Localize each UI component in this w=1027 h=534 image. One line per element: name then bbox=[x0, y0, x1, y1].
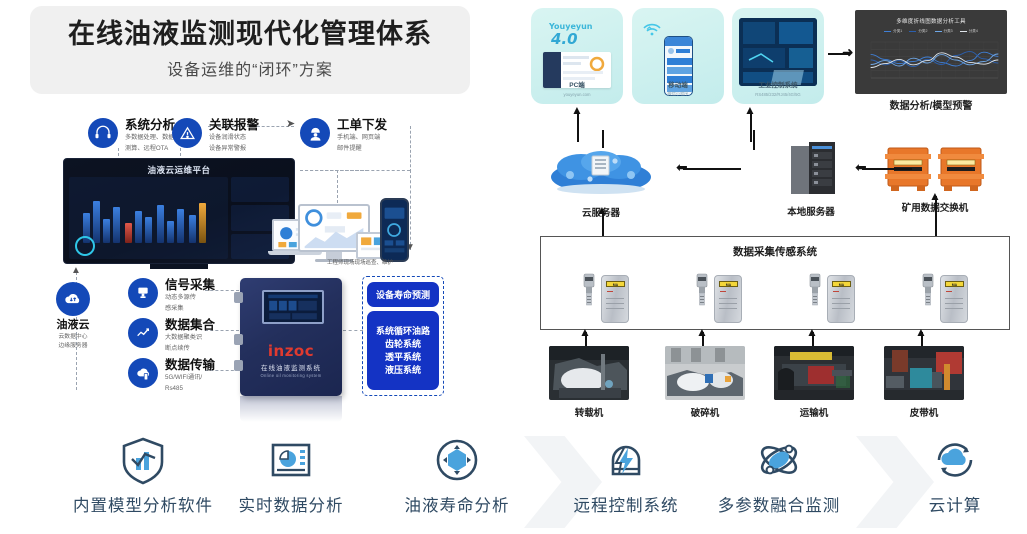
badge-title: 信号采集 bbox=[165, 278, 215, 292]
chart-plot-area bbox=[869, 40, 1000, 82]
app-card-sub: RS485/232/RJ45/4G/5G bbox=[732, 92, 824, 97]
module-ma-label: MA bbox=[719, 281, 738, 287]
badge-title: 工单下发 bbox=[337, 118, 387, 132]
system-item: 液压系统 bbox=[385, 364, 421, 376]
flow-line bbox=[753, 130, 755, 150]
equipment-label: 转载机 bbox=[549, 405, 629, 419]
gauge-icon bbox=[75, 236, 95, 256]
equipment-photo bbox=[884, 346, 964, 400]
badge-text: 关联报警 设备润滑状态 设备异常警报 bbox=[209, 118, 259, 153]
data-acquisition-box: 数据采集传感系统 MA ▬▬ bbox=[540, 236, 1010, 330]
acquisition-module: MA ▬▬ bbox=[827, 275, 855, 323]
warning-triangle-icon bbox=[172, 118, 202, 148]
ai-headset-icon bbox=[88, 118, 118, 148]
cloud-upload-icon bbox=[128, 358, 158, 388]
badge-sub2: 设备异常警报 bbox=[209, 145, 259, 153]
legend-item: 分类1 bbox=[884, 29, 902, 34]
module-model-text: ▬▬ bbox=[607, 289, 613, 293]
field-note: 工程师现场现场巡查、维护 bbox=[327, 258, 393, 266]
feature-builtin-model-software[interactable]: 内置模型分析软件 bbox=[68, 432, 218, 516]
worker-helmet-icon bbox=[300, 118, 330, 148]
feature-label: 油液寿命分析 bbox=[382, 492, 532, 516]
module-bar bbox=[719, 303, 737, 304]
acquisition-module: MA ▬▬ bbox=[601, 275, 629, 323]
chart-title: 多维度折线图数据分析工具 bbox=[855, 17, 1007, 25]
app-card-caption: 移动端 bbox=[632, 79, 724, 89]
conveyor-photo bbox=[774, 346, 854, 400]
page-title: 在线油液监测现代化管理体系 bbox=[68, 20, 432, 50]
lightning-gauge-icon bbox=[551, 432, 701, 488]
legend-item: 分类3 bbox=[935, 29, 953, 34]
feature-strip: 内置模型分析软件 实时数据分析 bbox=[0, 432, 1027, 534]
badge-sub1: 手机端、网页端 bbox=[337, 134, 387, 142]
acquisition-module: MA ▬▬ bbox=[714, 275, 742, 323]
badge-title: 数据集合 bbox=[165, 318, 215, 332]
feature-realtime-data-analysis[interactable]: 实时数据分析 bbox=[216, 432, 366, 516]
badge-text: 数据集合 大数据聚类识 断点续传 bbox=[165, 318, 215, 353]
industrial-mock bbox=[739, 18, 817, 86]
arrow-up-icon: ▲ bbox=[915, 326, 927, 338]
feature-multi-param-monitoring[interactable]: 多参数融合监测 bbox=[704, 432, 854, 516]
brand-version: 4.0 bbox=[551, 30, 578, 48]
badge-text: 数据传输 5G/WIFI通讯/ Rs485 bbox=[165, 358, 215, 393]
badge-sub1: 云数据中心 bbox=[57, 334, 90, 342]
sensor-system-title: 数据采集传感系统 bbox=[541, 244, 1009, 259]
chart-caption: 数据分析/模型预警 bbox=[855, 97, 1007, 112]
poster-root: 在线油液监测现代化管理体系 设备运维的“闭环”方案 ➤ ▼ ➤ ▲ bbox=[0, 0, 1027, 534]
module-bar bbox=[945, 303, 963, 304]
connector-dash bbox=[300, 170, 368, 171]
equipment-photo bbox=[774, 346, 854, 400]
arrow-left-icon: ⬅ bbox=[676, 160, 688, 174]
flow-line bbox=[683, 168, 741, 170]
equipment-label: 破碎机 bbox=[665, 405, 745, 419]
acquisition-module: MA ▬▬ bbox=[940, 275, 968, 323]
industrial-control-icon bbox=[739, 18, 817, 86]
device-reflection bbox=[240, 396, 342, 422]
equipment-label: 运输机 bbox=[774, 405, 854, 419]
badge-sub1: 大数据聚类识 bbox=[165, 334, 215, 342]
badge-sub1: 动态多源传 bbox=[165, 294, 215, 302]
module-model-text: ▬▬ bbox=[946, 289, 952, 293]
app-card-caption: 工业控制系统 bbox=[732, 79, 824, 89]
equipment-crusher[interactable]: 破碎机 bbox=[665, 346, 745, 419]
badge-sub2: 断点续传 bbox=[165, 345, 215, 353]
app-card-sub: 微信小程序 bbox=[632, 91, 724, 97]
crusher-photo bbox=[665, 346, 745, 400]
badge-sub1: 设备润滑状态 bbox=[209, 134, 259, 142]
device-name-en: Online oil monitoring system bbox=[240, 373, 342, 378]
badge-linked-alarm[interactable]: 关联报警 设备润滑状态 设备异常警报 bbox=[172, 118, 259, 153]
badge-title: 关联报警 bbox=[209, 118, 259, 132]
badge-title: 系统分析 bbox=[125, 118, 175, 132]
oil-sensor-probe-icon bbox=[808, 272, 822, 323]
phone-device bbox=[380, 198, 409, 262]
arrow-up-icon: ▲ bbox=[806, 326, 818, 338]
legend-item: 分类2 bbox=[909, 29, 927, 34]
brand-name: inzoc bbox=[240, 342, 342, 360]
module-bar bbox=[832, 298, 850, 299]
feature-cloud-computing[interactable]: 云计算 bbox=[880, 432, 1027, 516]
reloader-photo bbox=[549, 346, 629, 400]
badge-sub2: Rs485 bbox=[165, 385, 215, 393]
badge-data-transmission[interactable]: 数据传输 5G/WIFI通讯/ Rs485 bbox=[128, 358, 215, 393]
arrow-up-icon: ▲ bbox=[571, 104, 583, 116]
feature-label: 内置模型分析软件 bbox=[68, 492, 218, 516]
screen-stand bbox=[150, 264, 208, 269]
sensor-pair[interactable]: MA ▬▬ bbox=[808, 272, 855, 323]
module-ma-label: MA bbox=[945, 281, 964, 287]
module-bar bbox=[606, 298, 624, 299]
equipment-photo bbox=[549, 346, 629, 400]
platform-screen-body bbox=[69, 177, 289, 259]
platform-screen: 油液云运维平台 bbox=[63, 158, 295, 264]
oil-sensor-probe-icon bbox=[695, 272, 709, 323]
badge-sub1: 5G/WIFI通讯/ bbox=[165, 374, 215, 382]
badge-signal-acquisition[interactable]: 信号采集 动态多源传 感采集 bbox=[128, 278, 215, 313]
module-bar bbox=[719, 298, 737, 299]
equipment-conveyor[interactable]: 运输机 bbox=[774, 346, 854, 419]
equipment-label: 皮带机 bbox=[884, 405, 964, 419]
tower-server-icon bbox=[763, 140, 859, 196]
oil-sensor-probe-icon bbox=[582, 272, 596, 323]
title-card: 在线油液监测现代化管理体系 设备运维的“闭环”方案 bbox=[30, 6, 470, 94]
connector-dash bbox=[343, 330, 363, 331]
badge-sub2: 测算、远程OTA bbox=[125, 145, 175, 153]
sensor-list: MA ▬▬ MA ▬▬ bbox=[549, 263, 1001, 323]
device-connector-knob bbox=[234, 292, 243, 303]
feature-label: 远程控制系统 bbox=[551, 492, 701, 516]
cloud-refresh-icon bbox=[880, 432, 1027, 488]
connector-dash bbox=[410, 126, 411, 172]
sensor-pair[interactable]: MA ▬▬ bbox=[921, 272, 968, 323]
line-chart-icon bbox=[128, 318, 158, 348]
device-branding: inzoc 在线油液监测系统 Online oil monitoring sys… bbox=[240, 342, 342, 378]
feature-oil-life-analysis[interactable]: 油液寿命分析 bbox=[382, 432, 532, 516]
badge-text: 信号采集 动态多源传 感采集 bbox=[165, 278, 215, 313]
belt-machine-photo bbox=[884, 346, 964, 400]
flow-line bbox=[862, 168, 912, 170]
system-item: 齿轮系统 bbox=[385, 338, 421, 350]
chart-svg bbox=[869, 40, 1000, 82]
badge-text: 工单下发 手机端、网页端 邮件提醒 bbox=[337, 118, 387, 153]
feature-label: 云计算 bbox=[880, 492, 1027, 516]
isometric-visual bbox=[69, 177, 228, 259]
arrow-icon: ➤ bbox=[286, 119, 295, 130]
prediction-panel: 设备寿命预测 系统循环油路 齿轮系统 透平系统 液压系统 bbox=[362, 276, 444, 396]
badge-text: 系统分析 多数据处理、数据 测算、远程OTA bbox=[125, 118, 175, 153]
module-bar bbox=[945, 308, 963, 309]
badge-title: 油液云 bbox=[57, 319, 90, 332]
device-name-cn: 在线油液监测系统 bbox=[240, 362, 342, 372]
equipment-photo bbox=[665, 346, 745, 400]
sensor-pair[interactable]: MA ▬▬ bbox=[695, 272, 742, 323]
arrow-icon: ▲ bbox=[71, 266, 81, 276]
app-card-industrial[interactable]: 工业控制系统 RS485/232/RJ45/4G/5G bbox=[732, 8, 824, 104]
feature-label: 多参数融合监测 bbox=[704, 492, 854, 516]
arrow-left-icon: ⬅ bbox=[855, 160, 867, 174]
module-bar bbox=[945, 298, 963, 299]
cube-arrows-icon bbox=[382, 432, 532, 488]
app-card-sub: youyeyun.com bbox=[531, 92, 623, 97]
badge-work-order[interactable]: 工单下发 手机端、网页端 邮件提醒 bbox=[300, 118, 387, 153]
module-bar bbox=[606, 303, 624, 304]
cloud-sync-icon bbox=[56, 282, 90, 316]
app-card-caption: PC端 bbox=[531, 79, 623, 89]
badge-system-analysis[interactable]: 系统分析 多数据处理、数据 测算、远程OTA bbox=[88, 118, 175, 153]
arrow-up-icon: ▲ bbox=[596, 204, 608, 216]
badge-sub2: 感采集 bbox=[165, 305, 215, 313]
badge-sub1: 多数据处理、数据 bbox=[125, 134, 175, 142]
badge-oil-cloud[interactable]: 油液云 云数据中心 边缘服务器 bbox=[56, 282, 90, 351]
module-ma-label: MA bbox=[832, 281, 851, 287]
badge-title: 数据传输 bbox=[165, 358, 215, 372]
chart-legend: 分类1 分类2 分类3 分类4 bbox=[855, 29, 1007, 34]
flow-line bbox=[602, 130, 604, 148]
node-label: 本地服务器 bbox=[763, 204, 859, 218]
shield-chart-icon bbox=[68, 432, 218, 488]
app-card-mobile[interactable]: ⌃ 移动端 微信小程序 bbox=[632, 8, 724, 104]
arrow-up-icon: ▲ bbox=[744, 104, 756, 116]
module-model-text: ▬▬ bbox=[720, 289, 726, 293]
sensor-pair[interactable]: MA ▬▬ bbox=[582, 272, 629, 323]
page-subtitle: 设备运维的“闭环”方案 bbox=[167, 56, 333, 80]
module-bar bbox=[606, 308, 624, 309]
oil-monitoring-device: inzoc 在线油液监测系统 Online oil monitoring sys… bbox=[240, 278, 342, 396]
badge-sub2: 边缘服务器 bbox=[57, 343, 90, 351]
device-display-chart bbox=[264, 292, 322, 322]
module-ma-label: MA bbox=[606, 281, 625, 287]
equipment-reloader[interactable]: 转载机 bbox=[549, 346, 629, 419]
badge-sub2: 邮件提醒 bbox=[337, 145, 387, 153]
module-bar bbox=[719, 308, 737, 309]
atom-orbit-icon bbox=[704, 432, 854, 488]
arrow-up-icon: ▲ bbox=[579, 326, 591, 338]
wifi-waves-icon bbox=[642, 22, 662, 36]
system-item: 系统循环油路 bbox=[376, 325, 430, 337]
analysis-chart-panel: 多维度折线图数据分析工具 分类1 分类2 分类3 分类4 bbox=[855, 10, 1007, 94]
life-prediction-pill[interactable]: 设备寿命预测 bbox=[367, 282, 439, 307]
feature-label: 实时数据分析 bbox=[216, 492, 366, 516]
badge-data-aggregation[interactable]: 数据集合 大数据聚类识 断点续传 bbox=[128, 318, 215, 353]
cloud-server-icon bbox=[545, 145, 657, 197]
iso-bars bbox=[75, 195, 222, 243]
legend-item: 分类4 bbox=[960, 29, 978, 34]
arrow-up-icon: ▲ bbox=[696, 326, 708, 338]
node-local-server[interactable]: 本地服务器 bbox=[763, 140, 859, 218]
phone-screen bbox=[382, 200, 407, 260]
arrow-up-icon: ▲ bbox=[929, 190, 941, 202]
platform-screen-title: 油液云运维平台 bbox=[64, 164, 294, 176]
sensor-probe-icon bbox=[128, 278, 158, 308]
module-bar bbox=[832, 308, 850, 309]
system-item: 透平系统 bbox=[385, 351, 421, 363]
arrow-right-icon: ➜ bbox=[842, 45, 854, 59]
module-bar bbox=[832, 303, 850, 304]
pie-chart-board-icon bbox=[216, 432, 366, 488]
feature-remote-control-system[interactable]: 远程控制系统 bbox=[551, 432, 701, 516]
app-card-pc[interactable]: Youyeyun 4.0 PC端 youyeyun.com bbox=[531, 8, 623, 104]
equipment-belt-machine[interactable]: 皮带机 bbox=[884, 346, 964, 419]
industrial-switch-icon bbox=[880, 140, 990, 192]
monitored-systems-pill[interactable]: 系统循环油路 齿轮系统 透平系统 液压系统 bbox=[367, 311, 439, 390]
device-display[interactable] bbox=[262, 290, 324, 324]
module-model-text: ▬▬ bbox=[833, 289, 839, 293]
oil-sensor-probe-icon bbox=[921, 272, 935, 323]
badge-text: 油液云 云数据中心 边缘服务器 bbox=[57, 319, 90, 351]
